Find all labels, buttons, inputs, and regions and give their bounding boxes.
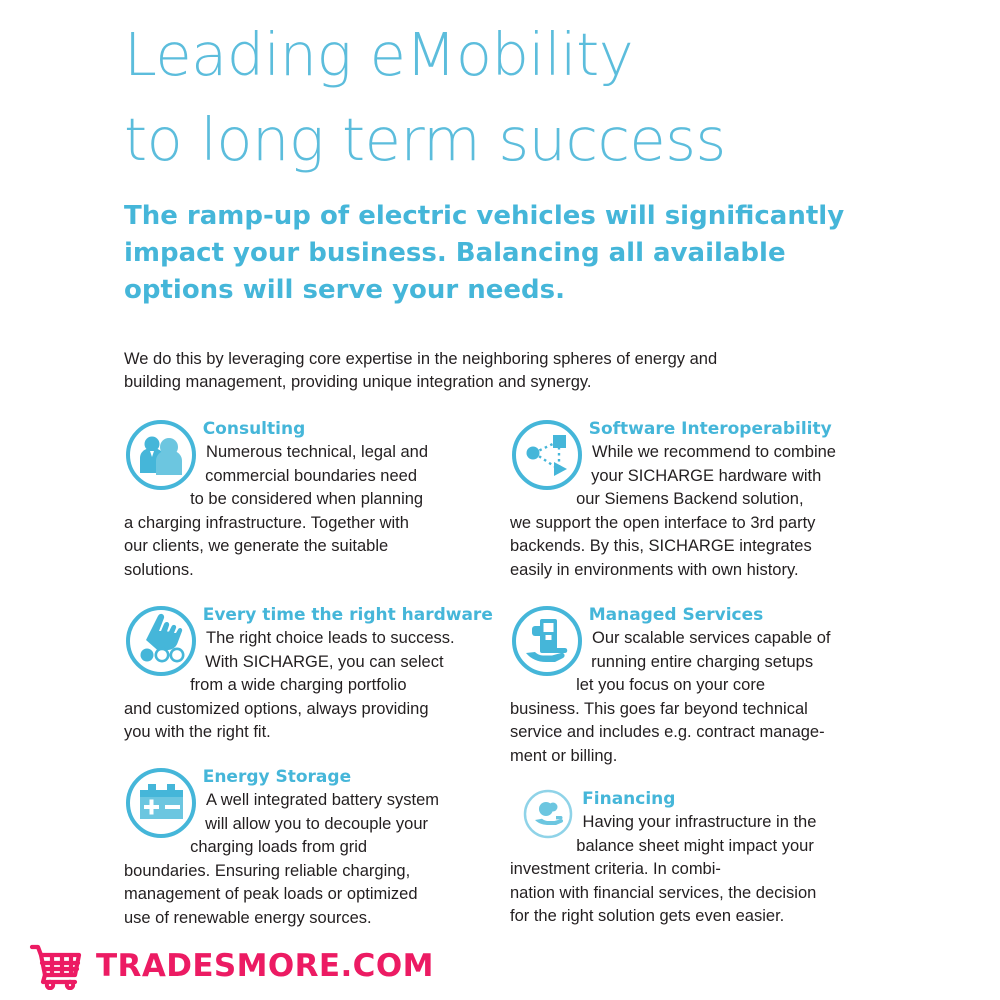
body-line: ment or billing. bbox=[510, 745, 895, 769]
battery-icon bbox=[124, 766, 198, 840]
brand-name: TRADESMORE.COM bbox=[96, 948, 434, 984]
subtitle-line-1: The ramp-up of electric vehicles will si… bbox=[124, 198, 884, 235]
page-title: Leading eMobility to long term success bbox=[124, 12, 924, 182]
headline-line-1: Leading eMobility bbox=[124, 12, 924, 97]
body-line: and customized options, always providing bbox=[124, 698, 509, 722]
feature-managed-services: Managed Services Our scalable services c… bbox=[510, 604, 895, 768]
feature-hardware: Every time the right hardware The right … bbox=[124, 604, 509, 745]
poster-page: Leading eMobility to long term success T… bbox=[0, 0, 1000, 1000]
hand-charger-icon bbox=[510, 604, 584, 678]
shopping-cart-icon bbox=[28, 942, 82, 990]
body-line: business. This goes far beyond technical bbox=[510, 698, 895, 722]
body-line: a charging infrastructure. Together with bbox=[124, 512, 509, 536]
brand-logo[interactable]: TRADESMORE.COM bbox=[28, 942, 434, 990]
footer: TRADESMORE.COM bbox=[0, 934, 1000, 1000]
body-line: boundaries. Ensuring reliable charging, bbox=[124, 860, 509, 884]
page-subtitle: The ramp-up of electric vehicles will si… bbox=[124, 198, 884, 309]
body-line: backends. By this, SICHARGE integrates bbox=[510, 535, 895, 559]
body-line: you with the right fit. bbox=[124, 721, 509, 745]
body-line: nation with financial services, the deci… bbox=[510, 882, 895, 906]
headline-line-2: to long term success bbox=[124, 97, 924, 182]
body-line: use of renewable energy sources. bbox=[124, 907, 509, 931]
body-line: service and includes e.g. contract manag… bbox=[510, 721, 895, 745]
feature-consulting: Consulting Numerous technical, legal and… bbox=[124, 418, 509, 582]
two-people-icon bbox=[124, 418, 198, 492]
body-line: solutions. bbox=[124, 559, 509, 583]
subtitle-line-2: impact your business. Balancing all avai… bbox=[124, 235, 884, 272]
feature-financing: Financing Having your infrastructure in … bbox=[510, 788, 895, 929]
intro-line-2: building management, providing unique in… bbox=[124, 371, 884, 394]
body-line: our clients, we generate the suitable bbox=[124, 535, 509, 559]
body-line: we support the open interface to 3rd par… bbox=[510, 512, 895, 536]
intro-paragraph: We do this by leveraging core expertise … bbox=[124, 348, 884, 394]
feature-energy-storage: Energy Storage A well integrated battery… bbox=[124, 766, 509, 930]
body-line: easily in environments with own history. bbox=[510, 559, 895, 583]
network-nodes-icon bbox=[510, 418, 584, 492]
body-line: management of peak loads or optimized bbox=[124, 883, 509, 907]
intro-line-1: We do this by leveraging core expertise … bbox=[124, 348, 884, 371]
body-line: for the right solution gets even easier. bbox=[510, 905, 895, 929]
subtitle-line-3: options will serve your needs. bbox=[124, 272, 884, 309]
hand-coins-icon bbox=[522, 788, 574, 840]
hand-choice-icon bbox=[124, 604, 198, 678]
feature-software-interoperability: Software Interoperability While we recom… bbox=[510, 418, 895, 582]
body-line: investment criteria. In combi- bbox=[510, 858, 895, 882]
